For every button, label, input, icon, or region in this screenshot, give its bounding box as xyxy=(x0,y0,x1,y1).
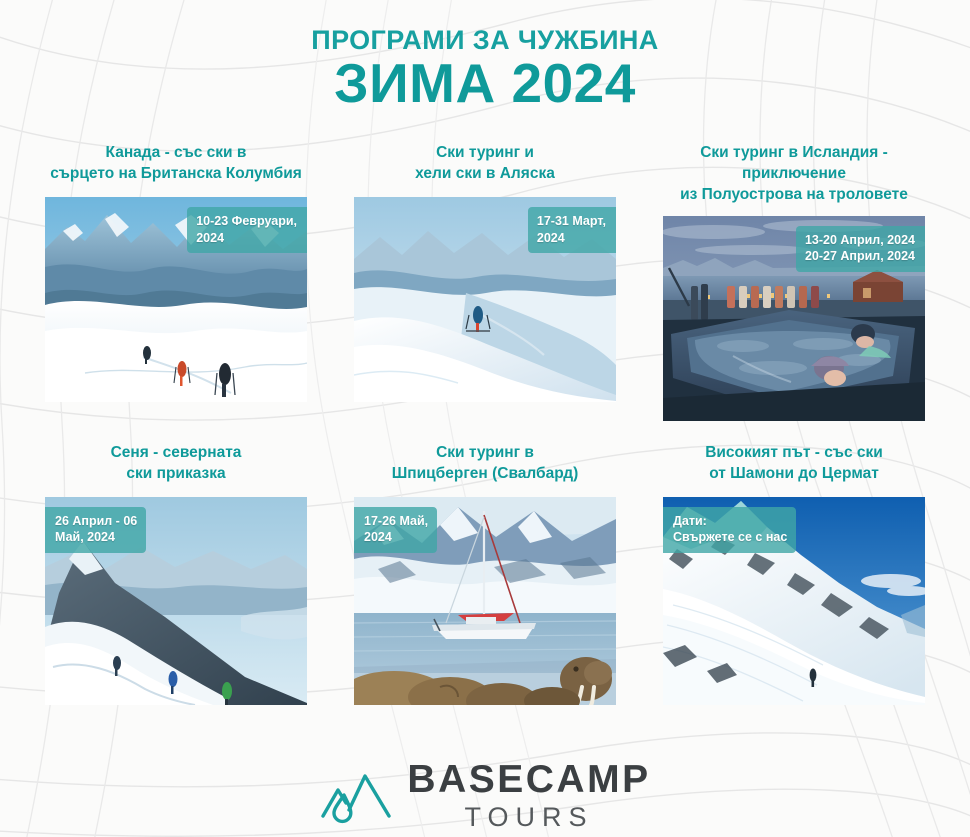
mountain-waterdrop-icon xyxy=(319,766,393,826)
tour-card-title: Ски туринг в Шпицберген (Свалбард) xyxy=(388,443,583,487)
tour-card-grid: Канада - със ски в сърцето на Британска … xyxy=(0,143,970,705)
header-kicker: ПРОГРАМИ ЗА ЧУЖБИНА xyxy=(0,26,970,54)
tour-card-title: Сеня - северната ски приказка xyxy=(107,443,246,487)
tour-date-badge: 13-20 Април, 2024 20-27 Април, 2024 xyxy=(796,226,925,272)
tour-card-canada[interactable]: Канада - със ски в сърцето на Британска … xyxy=(26,143,326,421)
tour-card-photo-wrap: 17-31 Март, 2024 xyxy=(354,197,616,402)
tour-card-photo-wrap: 17-26 Май, 2024 xyxy=(354,497,616,705)
tour-card-photo-wrap: Дати: Свържете се с нас xyxy=(663,497,925,705)
tour-card-senja[interactable]: Сеня - северната ски приказка xyxy=(26,443,326,705)
brand-wordmark: BASECAMP TOURS xyxy=(407,760,650,831)
tour-card-haute-route[interactable]: Високият път - със ски от Шамони до Церм… xyxy=(644,443,944,705)
tour-card-svalbard[interactable]: Ски туринг в Шпицберген (Свалбард) xyxy=(335,443,635,705)
tour-card-title: Високият път - със ски от Шамони до Церм… xyxy=(701,443,887,487)
page-title: ЗИМА 2024 xyxy=(0,56,970,111)
poster-page: ПРОГРАМИ ЗА ЧУЖБИНА ЗИМА 2024 Канада - с… xyxy=(0,0,970,837)
tour-card-photo-wrap: 26 Април - 06 Май, 2024 xyxy=(45,497,307,705)
brand-footer: BASECAMP TOURS xyxy=(0,760,970,831)
tour-row-bottom: Сеня - северната ски приказка xyxy=(0,443,970,705)
tour-card-photo-wrap: 10-23 Февруари, 2024 xyxy=(45,197,307,402)
brand-tagline: TOURS xyxy=(407,804,650,831)
tour-date-badge: 17-26 Май, 2024 xyxy=(354,507,437,553)
tour-row-top: Канада - със ски в сърцето на Британска … xyxy=(0,143,970,421)
tour-date-badge: Дати: Свържете се с нас xyxy=(663,507,796,553)
tour-date-badge: 10-23 Февруари, 2024 xyxy=(187,207,307,253)
tour-date-badge: 17-31 Март, 2024 xyxy=(528,207,616,253)
tour-card-iceland[interactable]: Ски туринг в Исландия - приключение из П… xyxy=(644,143,944,421)
tour-card-alaska[interactable]: Ски туринг и хели ски в Аляска xyxy=(335,143,635,421)
brand-name: BASECAMP xyxy=(407,760,650,799)
tour-card-title: Ски туринг и хели ски в Аляска xyxy=(411,143,559,187)
tour-card-photo-wrap: 13-20 Април, 2024 20-27 Април, 2024 xyxy=(663,216,925,421)
tour-date-badge: 26 Април - 06 Май, 2024 xyxy=(45,507,146,553)
tour-card-title: Ски туринг в Исландия - приключение из П… xyxy=(644,143,944,206)
tour-card-title: Канада - със ски в сърцето на Британска … xyxy=(46,143,306,187)
poster-header: ПРОГРАМИ ЗА ЧУЖБИНА ЗИМА 2024 xyxy=(0,0,970,111)
